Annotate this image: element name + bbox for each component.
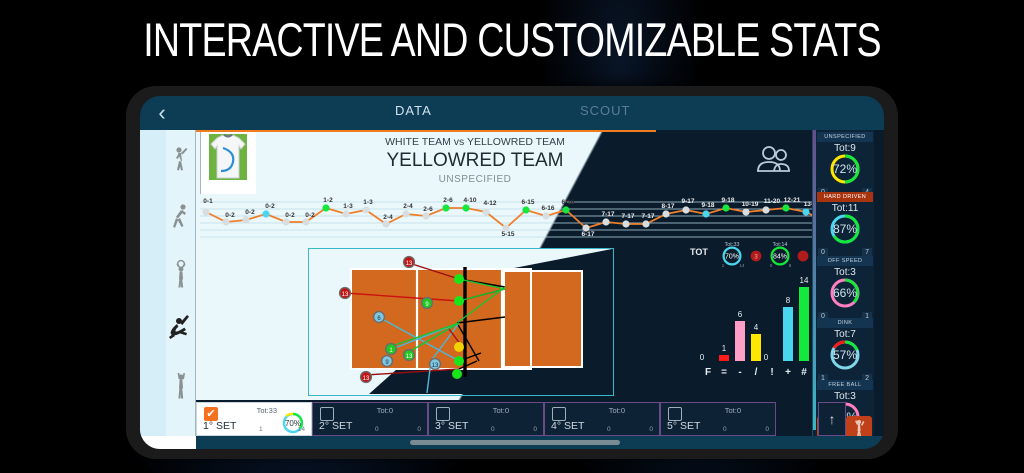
set-total: Tot:0 [493, 406, 509, 415]
set-checkbox[interactable] [320, 407, 334, 421]
left-icon-rail [140, 130, 196, 449]
set-checkbox[interactable] [552, 407, 566, 421]
set-total: Tot:0 [725, 406, 741, 415]
gauge-ring: 57% [817, 340, 873, 374]
gauge-dink[interactable]: DINK Tot:7 57% 1 2 [817, 318, 873, 385]
gauge-total: Tot:7 [817, 329, 873, 340]
gauge-total: Tot:11 [817, 203, 873, 214]
gauge-total: Tot:3 [817, 391, 873, 402]
gauge-title: DINK [817, 318, 873, 328]
svg-text:13: 13 [342, 292, 349, 298]
gauge-title: UNSPECIFIED [817, 132, 873, 142]
svg-text:0-2: 0-2 [265, 203, 275, 210]
set-high: 0 [417, 426, 421, 433]
gauge-title: HARD DRIVEN [817, 192, 873, 202]
gauge-total: Tot:3 [817, 267, 873, 278]
svg-text:8-17: 8-17 [661, 203, 674, 210]
team-title: YELLOWRED TEAM [310, 150, 640, 172]
set-total: Tot:33 [257, 406, 277, 415]
set-high: 0 [533, 426, 537, 433]
set-label: 4° SET [551, 420, 584, 432]
svg-text:70%: 70% [725, 254, 739, 261]
svg-text:10-19: 10-19 [742, 201, 759, 208]
specification-label: UNSPECIFIED [310, 174, 640, 185]
svg-text:6-15: 6-15 [521, 199, 534, 206]
set-label: 3° SET [435, 420, 468, 432]
svg-text:8: 8 [786, 296, 791, 305]
set-range: 0 0 [489, 426, 541, 434]
set-range: 1 14 [257, 426, 309, 434]
svg-text:14: 14 [800, 276, 809, 285]
phone-screen: ‹ DATA SCOUT [140, 96, 884, 449]
set-tabs: ✔ 1° SET Tot:33 70% 1 14 [196, 402, 812, 436]
svg-text:1: 1 [722, 344, 727, 353]
tot-label: TOT [690, 247, 708, 257]
svg-text:0: 0 [764, 353, 769, 362]
svg-text:0-2: 0-2 [285, 212, 295, 219]
set-low: 0 [375, 426, 379, 433]
svg-text:5-15: 5-15 [501, 231, 514, 238]
set-checkbox[interactable]: ✔ [204, 407, 218, 421]
set-total: Tot:0 [377, 406, 393, 415]
chevron-left-icon[interactable]: ‹ [148, 100, 176, 126]
tab-data[interactable]: DATA [395, 103, 432, 123]
svg-text:1-3: 1-3 [363, 199, 373, 206]
svg-text:13: 13 [363, 376, 370, 382]
svg-text:0: 0 [770, 263, 773, 268]
svg-text:6-16: 6-16 [561, 199, 574, 206]
gauge-off-speed[interactable]: OFF SPEED Tot:3 66% 0 1 [817, 256, 873, 323]
svg-text:F: F [705, 367, 711, 378]
set-checkbox[interactable] [436, 407, 450, 421]
bottom-left-spacer [140, 436, 196, 449]
set-label: 2° SET [319, 420, 352, 432]
tab-scout[interactable]: SCOUT [580, 103, 631, 123]
svg-text:7-17: 7-17 [601, 211, 614, 218]
attack-icon[interactable] [166, 304, 196, 354]
svg-text:+: + [785, 367, 791, 378]
svg-text:14: 14 [739, 263, 745, 268]
set-tab-2[interactable]: 2° SET Tot:0 0 0 [312, 402, 428, 436]
matchup-title: WHITE TEAM vs YELLOWRED TEAM [310, 136, 640, 148]
set-tab-1[interactable]: ✔ 1° SET Tot:33 70% 1 14 [196, 402, 312, 436]
set-label: 5° SET [667, 420, 700, 432]
gauge-ring: 66% [817, 278, 873, 312]
svg-text:4-10: 4-10 [463, 197, 476, 204]
svg-text:#: # [801, 367, 807, 378]
svg-text:11-20: 11-20 [764, 198, 781, 205]
svg-text:1: 1 [722, 263, 725, 268]
gauge-title: OFF SPEED [817, 256, 873, 266]
set-low: 1 [259, 426, 263, 433]
svg-text:7-17: 7-17 [621, 213, 634, 220]
svg-text:0-2: 0-2 [225, 212, 235, 219]
svg-text:13: 13 [406, 354, 413, 360]
svg-text:!: ! [770, 367, 773, 378]
svg-text:6: 6 [738, 310, 743, 319]
svg-text:2-4: 2-4 [403, 203, 413, 210]
set-high: 0 [649, 426, 653, 433]
svg-text:9-18: 9-18 [701, 202, 714, 209]
set-tab-5[interactable]: 5° SET Tot:0 0 0 [660, 402, 776, 436]
gauge-total: Tot:9 [817, 143, 873, 154]
svg-text:1-2: 1-2 [323, 197, 333, 204]
svg-text:84%: 84% [773, 254, 787, 261]
set-label: 1° SET [203, 420, 236, 432]
gauge-ring: 87% [817, 214, 873, 248]
set-high: 14 [298, 426, 305, 433]
svg-text:2-6: 2-6 [423, 206, 433, 213]
svg-text:0: 0 [700, 353, 705, 362]
svg-text:0-2: 0-2 [245, 209, 255, 216]
svg-text:13: 13 [432, 363, 439, 369]
bottom-bar [140, 436, 884, 449]
outcome-bar-chart[interactable]: 0 1 6 4 0 8 14 F = - / ! + [698, 275, 818, 385]
phone-frame: ‹ DATA SCOUT [126, 86, 898, 459]
gauge-unspecified[interactable]: UNSPECIFIED Tot:9 72% 0 4 [817, 132, 873, 199]
svg-text:4: 4 [754, 323, 759, 332]
set-low: 0 [607, 426, 611, 433]
set-low: 0 [491, 426, 495, 433]
svg-text:2-4: 2-4 [383, 214, 393, 221]
jersey-icon [200, 132, 256, 194]
svg-text:0-1: 0-1 [203, 198, 213, 205]
gauge-title: FREE BALL [817, 380, 873, 390]
svg-text:87%: 87% [833, 222, 857, 236]
svg-text:1-3: 1-3 [343, 203, 353, 210]
block-icon[interactable] [166, 360, 196, 410]
people-icon[interactable] [750, 140, 798, 182]
set-range: 0 0 [373, 426, 425, 434]
set-tab-3[interactable]: 3° SET Tot:0 0 0 [428, 402, 544, 436]
set-low: 0 [723, 426, 727, 433]
gauge-hard-driven[interactable]: HARD DRIVEN Tot:11 87% 0 7 [817, 192, 873, 259]
arrow-up-icon[interactable]: ↑ [818, 402, 846, 436]
svg-text:66%: 66% [833, 286, 857, 300]
banner-title: INTERACTIVE AND CUSTOMIZABLE STATS [102, 14, 921, 66]
set-tab-4[interactable]: 4° SET Tot:0 0 0 [544, 402, 660, 436]
orange-divider [196, 130, 656, 132]
svg-text:/: / [755, 367, 758, 378]
set-range: 0 0 [721, 426, 773, 434]
svg-text:-: - [738, 367, 741, 378]
set-range: 0 0 [605, 426, 657, 434]
svg-text:9-17: 9-17 [681, 198, 694, 205]
svg-text:2-6: 2-6 [443, 197, 453, 204]
top-bar: ‹ DATA SCOUT [140, 96, 884, 130]
set-high: 0 [765, 426, 769, 433]
horizontal-scrollbar[interactable] [410, 440, 620, 445]
content-area: WHITE TEAM vs YELLOWRED TEAM YELLOWRED T… [140, 130, 884, 449]
svg-text:72%: 72% [833, 162, 857, 176]
svg-text:13: 13 [406, 261, 413, 267]
dig-icon[interactable] [166, 192, 196, 242]
rail-strip [140, 130, 166, 449]
tot-summary-row: TOT Tot:33Tot:14Tot:19 70% 3 84% [690, 240, 820, 266]
gauge-ring: 72% [817, 154, 873, 188]
svg-text:9-18: 9-18 [721, 197, 734, 204]
court-diagram[interactable]: 13 13 13 6 9 13 1 13 [308, 248, 614, 396]
svg-text:6-16: 6-16 [541, 205, 554, 212]
svg-text:=: = [721, 367, 727, 378]
svg-text:12-21: 12-21 [784, 197, 801, 204]
svg-text:8: 8 [789, 263, 792, 268]
score-timeline-chart[interactable]: 0-1 0-2 0-2 0-2 0-2 0-2 1-2 1-3 1-3 2-4 … [200, 192, 860, 244]
svg-text:0-2: 0-2 [305, 212, 315, 219]
set-total: Tot:0 [609, 406, 625, 415]
svg-text:57%: 57% [833, 348, 857, 362]
serve-icon[interactable] [166, 136, 196, 186]
set-checkbox[interactable] [668, 407, 682, 421]
set-icon[interactable] [166, 248, 196, 298]
svg-text:7-17: 7-17 [641, 213, 654, 220]
svg-text:6-17: 6-17 [581, 231, 594, 238]
panel-scrollbar[interactable] [813, 130, 816, 430]
svg-text:4-12: 4-12 [483, 200, 496, 207]
